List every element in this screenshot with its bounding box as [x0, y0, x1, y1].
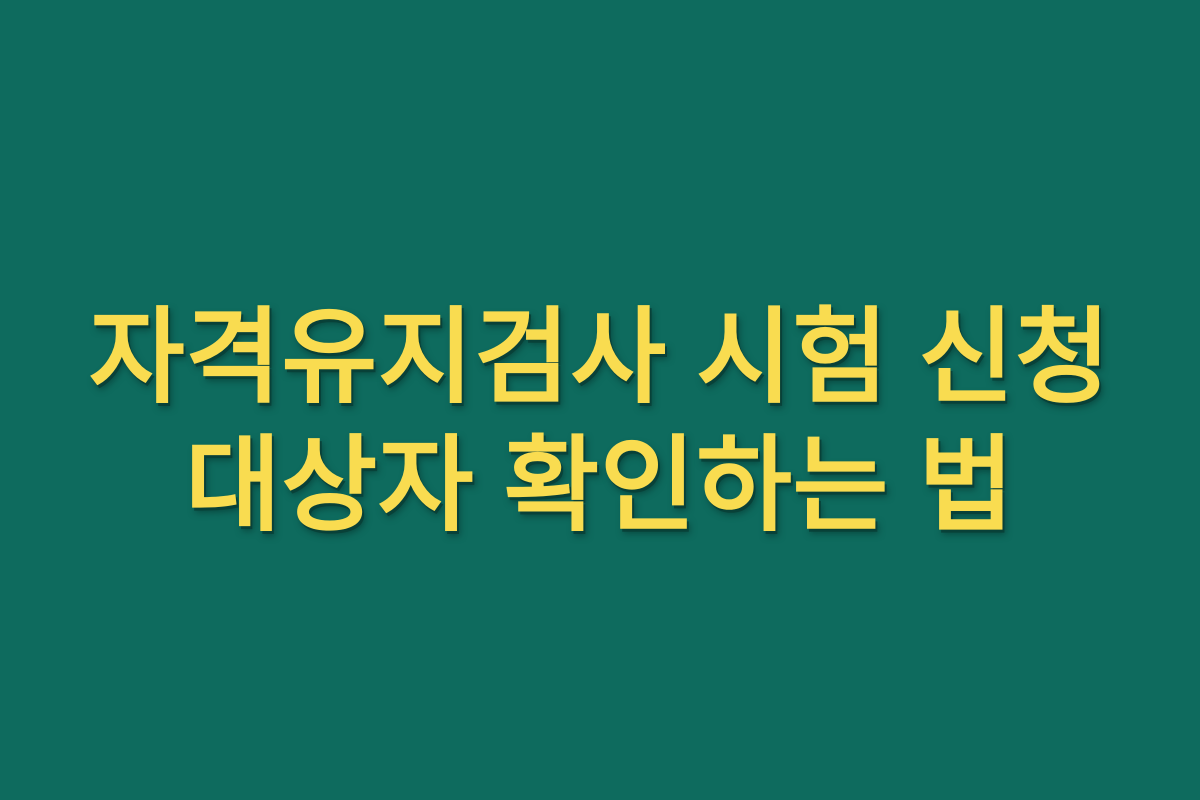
title-card-banner: 자격유지검사 시험 신청 대상자 확인하는 법: [0, 0, 1200, 800]
headline-line-1: 자격유지검사 시험 신청: [89, 303, 1111, 413]
headline-block: 자격유지검사 시험 신청 대상자 확인하는 법: [0, 303, 1200, 541]
headline-line-2: 대상자 확인하는 법: [185, 431, 1014, 541]
